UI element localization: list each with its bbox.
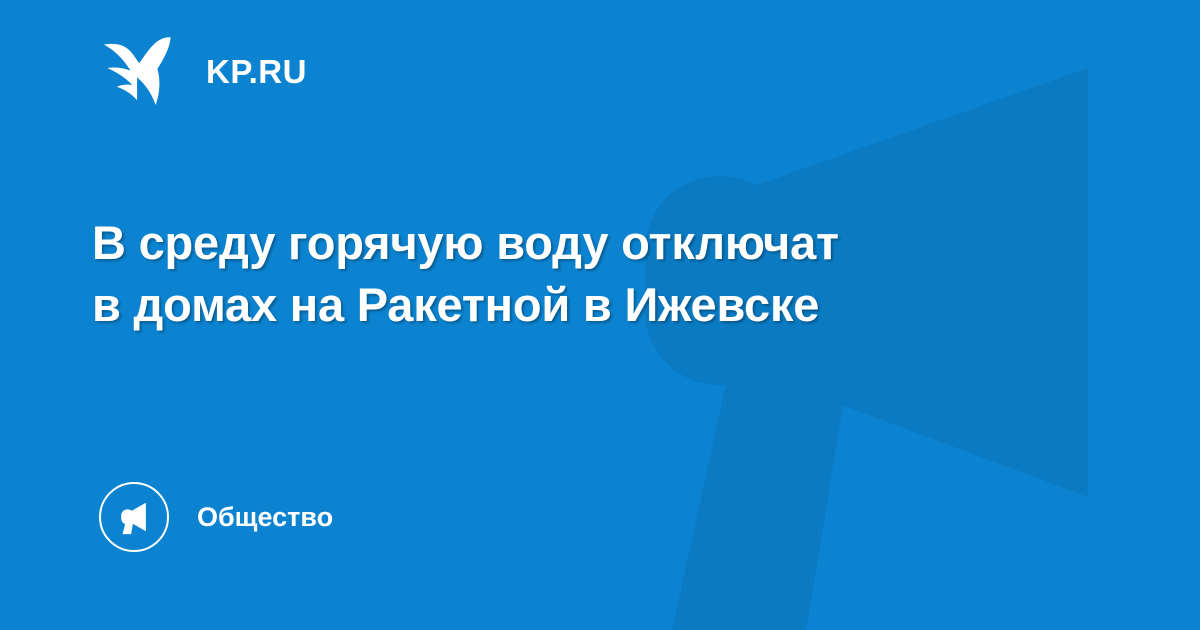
article-share-card: KP.RU В среду горячую воду отключат в до… [0, 0, 1200, 630]
headline-line-2: в домах на Ракетной в Ижевске [92, 274, 1052, 336]
headline-line-1: В среду горячую воду отключат [92, 212, 1052, 274]
megaphone-handle [672, 352, 852, 630]
category-badge[interactable]: Общество [99, 482, 333, 552]
brand-wordmark: KP.RU [206, 55, 307, 88]
category-label: Общество [197, 504, 333, 531]
brand-logo[interactable]: KP.RU [100, 33, 307, 109]
category-icon-circle [99, 482, 169, 552]
headline: В среду горячую воду отключат в домах на… [92, 212, 1052, 336]
swallow-bird-icon [100, 35, 174, 107]
megaphone-icon [115, 498, 153, 536]
